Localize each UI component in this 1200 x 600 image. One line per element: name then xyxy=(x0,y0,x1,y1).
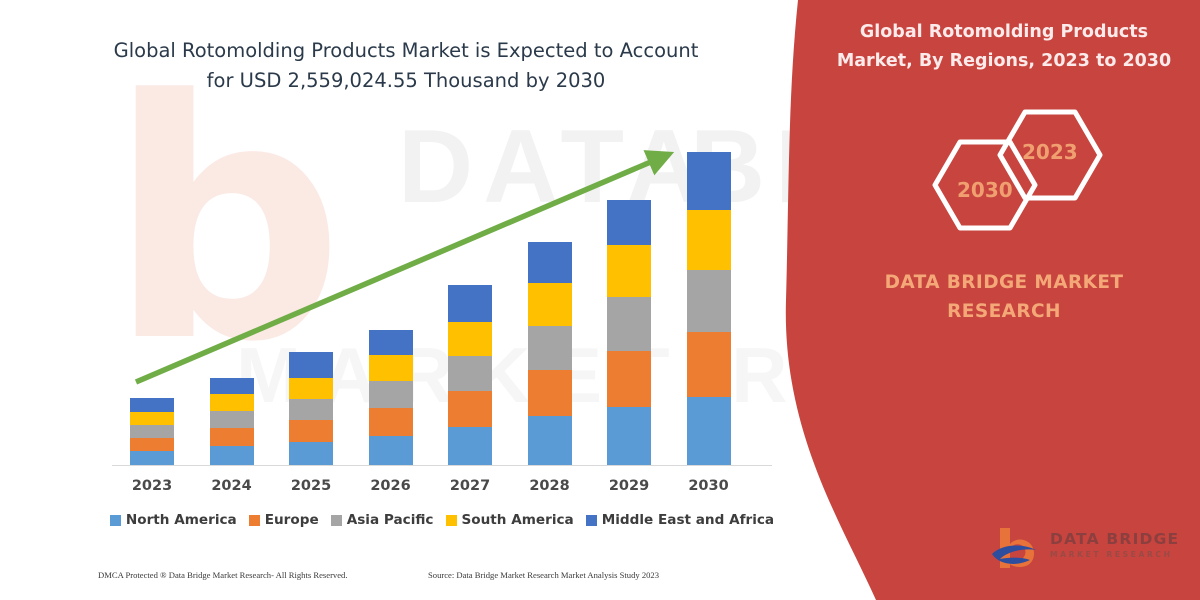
right-panel-content: Global Rotomolding Products Market, By R… xyxy=(800,0,1200,600)
legend-item-4[interactable]: Middle East and Africa xyxy=(586,512,774,528)
hex-badge-group: 2023 2030 xyxy=(800,0,1200,260)
bar-segment-2030-s1 xyxy=(687,332,731,397)
bar-segment-2023-s1 xyxy=(130,438,174,451)
legend-label: Europe xyxy=(265,512,319,528)
chart-title-line-2: for USD 2,559,024.55 Thousand by 2030 xyxy=(96,66,716,96)
bar-segment-2029-s4 xyxy=(607,200,651,245)
bar-2027 xyxy=(448,285,492,465)
bar-segment-2029-s3 xyxy=(607,245,651,297)
bar-segment-2028-s3 xyxy=(528,283,572,326)
bar-segment-2023-s2 xyxy=(130,425,174,438)
bar-segment-2025-s3 xyxy=(289,378,333,399)
legend-item-3[interactable]: South America xyxy=(446,512,574,528)
legend-swatch-icon xyxy=(249,515,260,526)
data-bridge-logo: DATA BRIDGE MARKET RESEARCH xyxy=(988,524,1188,582)
chart-legend: North AmericaEuropeAsia PacificSouth Ame… xyxy=(112,512,772,528)
bar-segment-2027-s1 xyxy=(448,391,492,427)
right-panel-brand-line-1: DATA BRIDGE MARKET xyxy=(820,268,1188,297)
bar-segment-2027-s2 xyxy=(448,356,492,391)
bar-segment-2028-s1 xyxy=(528,370,572,416)
legend-swatch-icon xyxy=(446,515,457,526)
footer-source-text: Source: Data Bridge Market Research Mark… xyxy=(428,570,659,580)
right-panel-brand: DATA BRIDGE MARKET RESEARCH xyxy=(820,268,1188,326)
bar-2028 xyxy=(528,242,572,465)
bar-segment-2023-s3 xyxy=(130,412,174,425)
legend-label: South America xyxy=(462,512,574,528)
x-axis-label-2027: 2027 xyxy=(435,478,505,494)
bar-segment-2028-s4 xyxy=(528,242,572,283)
legend-item-2[interactable]: Asia Pacific xyxy=(331,512,434,528)
hex-badge-shapes xyxy=(800,0,1200,260)
bar-segment-2025-s1 xyxy=(289,420,333,442)
bar-2023 xyxy=(130,398,174,465)
bar-segment-2026-s1 xyxy=(369,408,413,436)
bar-segment-2024-s3 xyxy=(210,394,254,411)
bar-2024 xyxy=(210,378,254,465)
x-axis-line xyxy=(112,465,772,466)
legend-swatch-icon xyxy=(586,515,597,526)
bar-segment-2026-s2 xyxy=(369,381,413,408)
chart-title-line-1: Global Rotomolding Products Market is Ex… xyxy=(96,36,716,66)
bar-2026 xyxy=(369,330,413,465)
hex-badge-2023-label: 2023 xyxy=(1022,140,1078,164)
bar-segment-2026-s3 xyxy=(369,355,413,381)
x-axis-label-2023: 2023 xyxy=(117,478,187,494)
bar-segment-2023-s0 xyxy=(130,451,174,465)
x-axis-label-2026: 2026 xyxy=(356,478,426,494)
bar-segment-2024-s0 xyxy=(210,446,254,465)
bar-segment-2025-s0 xyxy=(289,442,333,465)
bar-segment-2024-s1 xyxy=(210,428,254,446)
data-bridge-logo-icon xyxy=(988,524,1048,576)
legend-swatch-icon xyxy=(110,515,121,526)
bar-segment-2025-s2 xyxy=(289,399,333,420)
bar-segment-2027-s4 xyxy=(448,285,492,322)
right-panel-brand-line-2: RESEARCH xyxy=(820,297,1188,326)
logo-name: DATA BRIDGE xyxy=(1050,530,1179,548)
legend-label: North America xyxy=(126,512,237,528)
chart-title: Global Rotomolding Products Market is Ex… xyxy=(96,36,716,96)
bar-2025 xyxy=(289,352,333,465)
footer-dmca-text: DMCA Protected ® Data Bridge Market Rese… xyxy=(98,570,348,580)
bar-segment-2024-s4 xyxy=(210,378,254,394)
bar-segment-2027-s0 xyxy=(448,427,492,465)
bar-segment-2029-s0 xyxy=(607,407,651,465)
legend-label: Middle East and Africa xyxy=(602,512,774,528)
bar-segment-2030-s2 xyxy=(687,270,731,332)
x-axis-label-2030: 2030 xyxy=(674,478,744,494)
bar-segment-2030-s0 xyxy=(687,397,731,465)
x-axis-label-2025: 2025 xyxy=(276,478,346,494)
bar-segment-2024-s2 xyxy=(210,411,254,428)
bar-segment-2027-s3 xyxy=(448,322,492,356)
legend-item-0[interactable]: North America xyxy=(110,512,237,528)
logo-tagline: MARKET RESEARCH xyxy=(1050,550,1173,559)
hex-badge-2030-label: 2030 xyxy=(957,178,1013,202)
bar-2029 xyxy=(607,200,651,465)
infographic-canvas: b DATA BRIDGE MARKET RESEARCH Global Rot… xyxy=(0,0,1200,600)
bar-2030 xyxy=(687,152,731,465)
bar-segment-2025-s4 xyxy=(289,352,333,378)
bar-segment-2030-s4 xyxy=(687,152,731,210)
x-axis-label-2029: 2029 xyxy=(594,478,664,494)
bar-segment-2028-s2 xyxy=(528,326,572,370)
bar-segment-2023-s4 xyxy=(130,398,174,412)
bar-segment-2029-s1 xyxy=(607,351,651,407)
legend-item-1[interactable]: Europe xyxy=(249,512,319,528)
bar-segment-2030-s3 xyxy=(687,210,731,270)
x-axis-label-2028: 2028 xyxy=(515,478,585,494)
bar-segment-2029-s2 xyxy=(607,297,651,351)
bar-segment-2026-s4 xyxy=(369,330,413,355)
legend-label: Asia Pacific xyxy=(347,512,434,528)
x-axis-label-2024: 2024 xyxy=(197,478,267,494)
bar-segment-2028-s0 xyxy=(528,416,572,465)
legend-swatch-icon xyxy=(331,515,342,526)
bar-segment-2026-s0 xyxy=(369,436,413,465)
